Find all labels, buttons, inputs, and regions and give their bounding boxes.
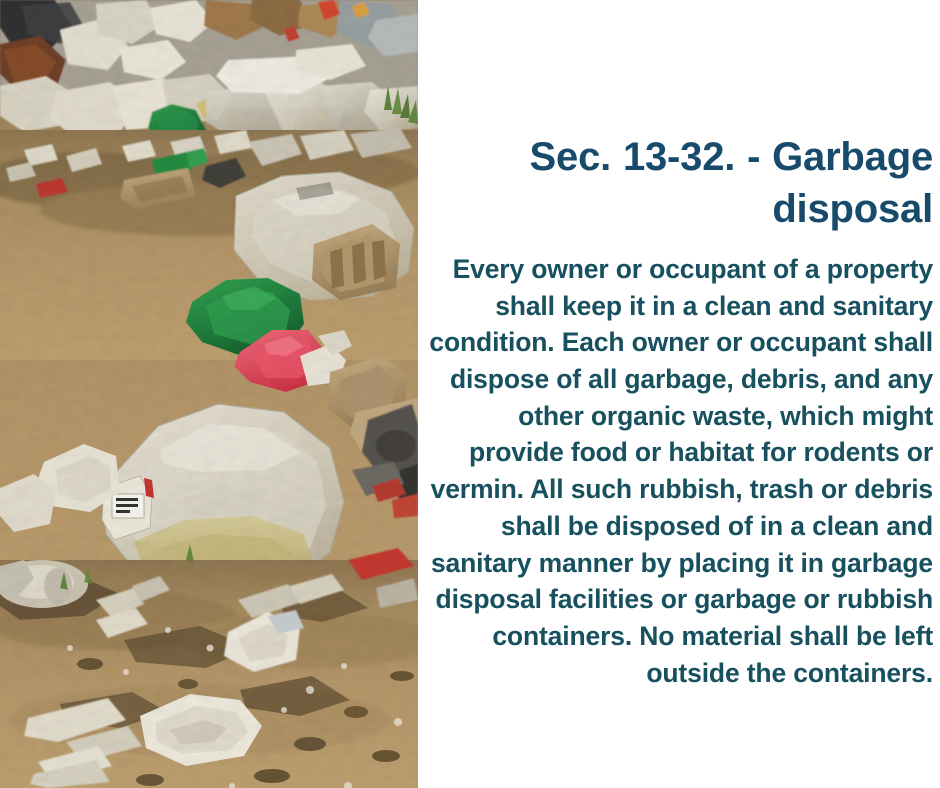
ordinance-text-panel: Sec. 13-32. - Garbage disposal Every own… bbox=[418, 0, 940, 788]
ordinance-body-text: Every owner or occupant of a property sh… bbox=[428, 251, 935, 691]
page-title: Sec. 13-32. - Garbage disposal bbox=[428, 131, 935, 235]
garbage-dump-photograph bbox=[0, 0, 418, 788]
ordinance-poster: Sec. 13-32. - Garbage disposal Every own… bbox=[0, 0, 940, 788]
garbage-dump-illustration bbox=[0, 0, 418, 788]
